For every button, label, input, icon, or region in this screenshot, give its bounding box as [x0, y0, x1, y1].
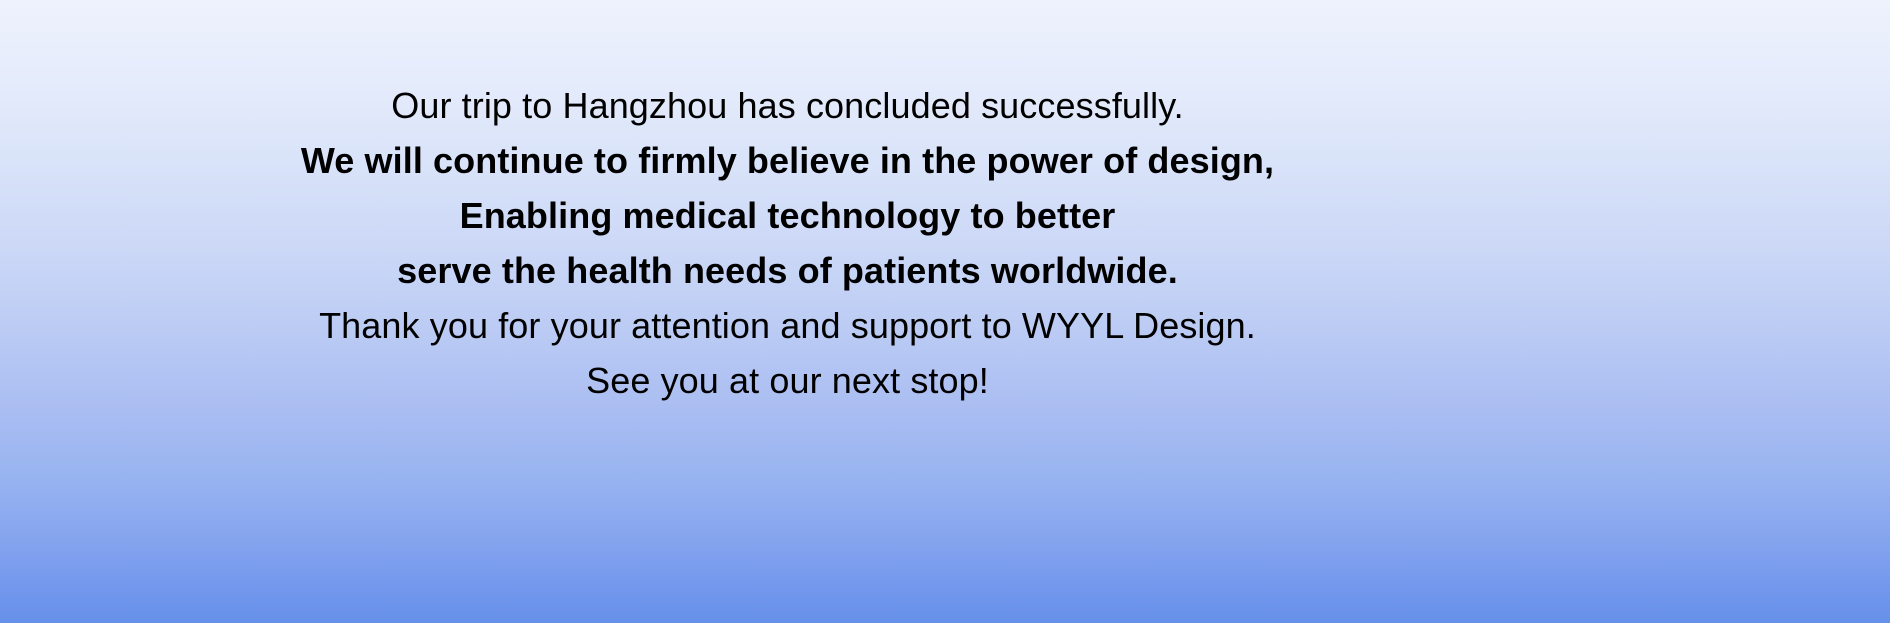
message-line-4: serve the health needs of patients world… [0, 243, 1575, 298]
closing-message-block: Our trip to Hangzhou has concluded succe… [0, 78, 1575, 408]
message-line-5: Thank you for your attention and support… [0, 298, 1575, 353]
message-line-2: We will continue to firmly believe in th… [0, 133, 1575, 188]
message-line-6: See you at our next stop! [0, 353, 1575, 408]
message-line-1: Our trip to Hangzhou has concluded succe… [0, 78, 1575, 133]
message-line-3: Enabling medical technology to better [0, 188, 1575, 243]
closing-slide: Our trip to Hangzhou has concluded succe… [0, 0, 1890, 623]
